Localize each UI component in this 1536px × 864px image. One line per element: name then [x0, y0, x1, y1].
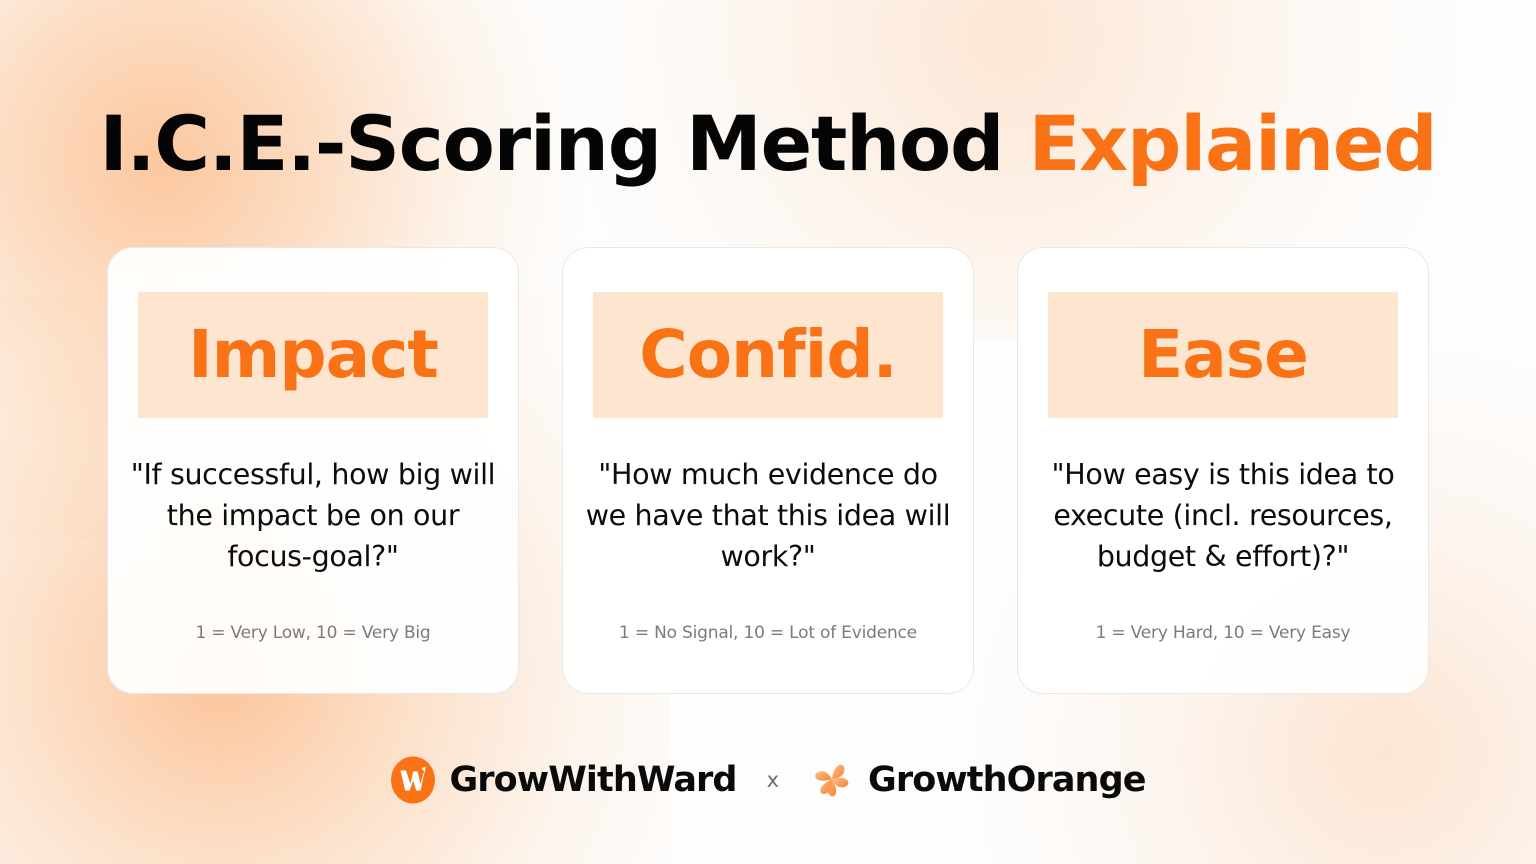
score-card-list: Impact "If successful, how big will the …	[107, 247, 1429, 694]
card-label-confidence: Confid.	[639, 322, 896, 388]
card-label-band: Impact	[138, 292, 488, 418]
page-title-accent: Explained	[1028, 99, 1436, 188]
card-label-impact: Impact	[188, 322, 438, 388]
brand-separator: x	[767, 770, 779, 791]
footer-brand-bar: GrowWithWard x GrowthOran	[0, 756, 1536, 804]
card-scale-confidence: 1 = No Signal, 10 = Lot of Evidence	[619, 623, 917, 643]
w-circle-logo-icon	[390, 756, 436, 804]
card-label-band: Ease	[1048, 292, 1398, 418]
score-card-confidence[interactable]: Confid. "How much evidence do we have th…	[562, 247, 974, 694]
card-label-band: Confid.	[593, 292, 943, 418]
brand-growwithward[interactable]: GrowWithWard	[390, 756, 736, 804]
page-title-main: I.C.E.-Scoring Method	[100, 99, 1029, 188]
score-card-ease[interactable]: Ease "How easy is this idea to execute (…	[1017, 247, 1429, 694]
pinwheel-flower-logo-icon	[809, 756, 855, 804]
brand-name-growthorange: GrowthOrange	[868, 763, 1146, 798]
card-quote-ease: "How easy is this idea to execute (incl.…	[1037, 454, 1409, 577]
card-quote-confidence: "How much evidence do we have that this …	[582, 454, 954, 577]
card-scale-ease: 1 = Very Hard, 10 = Very Easy	[1096, 623, 1351, 643]
brand-growthorange[interactable]: GrowthOrange	[809, 756, 1146, 804]
brand-name-growwithward: GrowWithWard	[449, 763, 736, 798]
page-title: I.C.E.-Scoring Method Explained	[0, 106, 1536, 182]
slide-canvas: I.C.E.-Scoring Method Explained Impact "…	[0, 0, 1536, 864]
card-quote-impact: "If successful, how big will the impact …	[127, 454, 499, 577]
card-label-ease: Ease	[1138, 322, 1308, 388]
card-scale-impact: 1 = Very Low, 10 = Very Big	[195, 623, 430, 643]
score-card-impact[interactable]: Impact "If successful, how big will the …	[107, 247, 519, 694]
